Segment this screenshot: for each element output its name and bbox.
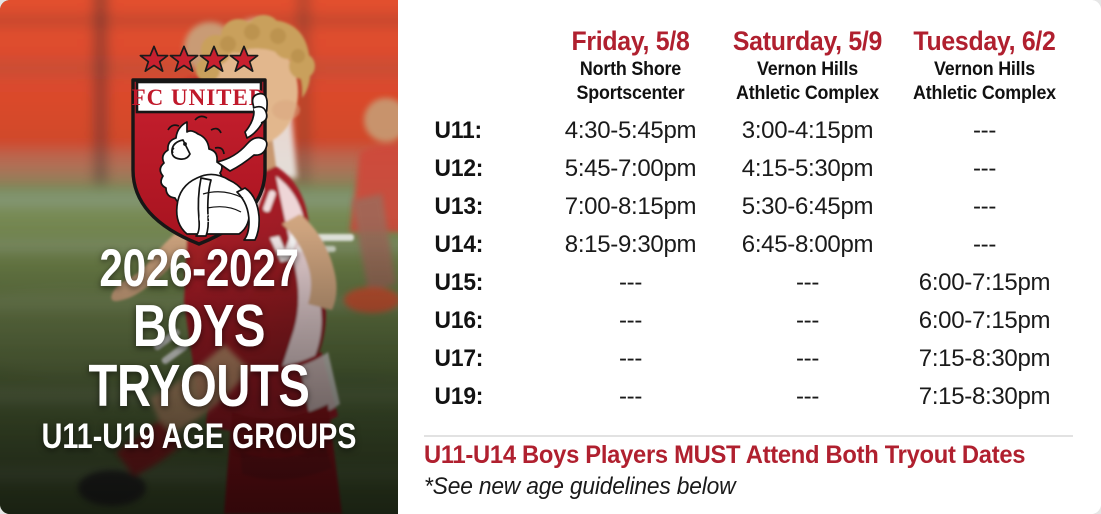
- age-group-label: U14:: [427, 226, 539, 264]
- footnote-block: U11-U14 Boys Players MUST Attend Both Tr…: [424, 440, 1073, 502]
- time-slot: ---: [896, 226, 1073, 264]
- fc-united-crest-logo: FC UNITED: [119, 22, 279, 247]
- schedule-venue-2-line2: Athletic Complex: [724, 80, 890, 104]
- age-group-label: U13:: [427, 188, 539, 226]
- time-slot: ---: [542, 340, 719, 378]
- schedule-date-3: Tuesday, 6/2: [903, 0, 1066, 56]
- time-slot: 6:45-8:00pm: [719, 226, 896, 264]
- age-group-label: U19:: [427, 378, 539, 416]
- schedule-venue-2-line1: Vernon Hills: [724, 56, 890, 80]
- table-row: U16: --- --- 6:00-7:15pm: [424, 302, 1073, 340]
- time-slot: 6:00-7:15pm: [896, 302, 1073, 340]
- age-group-label: U17:: [427, 340, 539, 378]
- schedule-table-body: U11: 4:30-5:45pm 3:00-4:15pm --- U12: 5:…: [424, 112, 1073, 416]
- footnote-secondary: *See new age guidelines below: [424, 470, 1041, 502]
- age-group-label: U16:: [427, 302, 539, 340]
- time-slot: 8:15-9:30pm: [542, 226, 719, 264]
- schedule-column-header-3: Tuesday, 6/2 Vernon Hills Athletic Compl…: [896, 0, 1073, 112]
- crest-star-icon: [140, 46, 257, 71]
- schedule-header-row: Friday, 5/8 North Shore Sportscenter Sat…: [424, 0, 1073, 112]
- promo-season: 2026-2027: [40, 242, 358, 296]
- time-slot: ---: [896, 150, 1073, 188]
- time-slot: 7:00-8:15pm: [542, 188, 719, 226]
- footnote-divider: [424, 435, 1073, 437]
- tryout-schedule-card: FC UNITED: [0, 0, 1101, 514]
- schedule-venue-1-line1: North Shore: [547, 56, 713, 80]
- age-group-label: U11:: [427, 112, 539, 150]
- table-row: U19: --- --- 7:15-8:30pm: [424, 378, 1073, 416]
- time-slot: 5:45-7:00pm: [542, 150, 719, 188]
- time-slot: ---: [719, 378, 896, 416]
- time-slot: ---: [542, 302, 719, 340]
- time-slot: ---: [896, 112, 1073, 150]
- age-column-header: [424, 0, 542, 112]
- table-row: U14: 8:15-9:30pm 6:45-8:00pm ---: [424, 226, 1073, 264]
- table-row: U15: --- --- 6:00-7:15pm: [424, 264, 1073, 302]
- schedule-venue-3-line1: Vernon Hills: [901, 56, 1067, 80]
- schedule-date-2: Saturday, 5/9: [726, 0, 889, 56]
- time-slot: 6:00-7:15pm: [896, 264, 1073, 302]
- promo-title: BOYS TRYOUTS: [40, 296, 358, 416]
- schedule-venue-1-line2: Sportscenter: [547, 80, 713, 104]
- schedule-date-1: Friday, 5/8: [549, 0, 712, 56]
- schedule-venue-3-line2: Athletic Complex: [901, 80, 1067, 104]
- table-row: U17: --- --- 7:15-8:30pm: [424, 340, 1073, 378]
- promo-headline: 2026-2027 BOYS TRYOUTS U11-U19 AGE GROUP…: [0, 242, 398, 458]
- schedule-table-head: Friday, 5/8 North Shore Sportscenter Sat…: [424, 0, 1073, 112]
- age-group-label: U15:: [427, 264, 539, 302]
- tryout-schedule-table: Friday, 5/8 North Shore Sportscenter Sat…: [424, 0, 1073, 416]
- table-row: U12: 5:45-7:00pm 4:15-5:30pm ---: [424, 150, 1073, 188]
- time-slot: ---: [542, 378, 719, 416]
- schedule-column-header-1: Friday, 5/8 North Shore Sportscenter: [542, 0, 719, 112]
- crest-founding-year: 2003: [185, 211, 213, 225]
- promo-subtitle: U11-U19 AGE GROUPS: [36, 416, 362, 458]
- time-slot: ---: [542, 264, 719, 302]
- time-slot: ---: [719, 302, 896, 340]
- time-slot: ---: [896, 188, 1073, 226]
- age-group-label: U12:: [427, 150, 539, 188]
- schedule-column-header-2: Saturday, 5/9 Vernon Hills Athletic Comp…: [719, 0, 896, 112]
- schedule-panel: Friday, 5/8 North Shore Sportscenter Sat…: [398, 0, 1101, 514]
- table-row: U13: 7:00-8:15pm 5:30-6:45pm ---: [424, 188, 1073, 226]
- promo-photo-panel: FC UNITED: [0, 0, 398, 514]
- time-slot: ---: [719, 340, 896, 378]
- time-slot: 7:15-8:30pm: [896, 340, 1073, 378]
- time-slot: 4:30-5:45pm: [542, 112, 719, 150]
- time-slot: 5:30-6:45pm: [719, 188, 896, 226]
- time-slot: 7:15-8:30pm: [896, 378, 1073, 416]
- footnote-primary: U11-U14 Boys Players MUST Attend Both Tr…: [424, 440, 1041, 470]
- time-slot: 3:00-4:15pm: [719, 112, 896, 150]
- table-row: U11: 4:30-5:45pm 3:00-4:15pm ---: [424, 112, 1073, 150]
- crest-wordmark: FC UNITED: [132, 85, 267, 110]
- time-slot: ---: [719, 264, 896, 302]
- time-slot: 4:15-5:30pm: [719, 150, 896, 188]
